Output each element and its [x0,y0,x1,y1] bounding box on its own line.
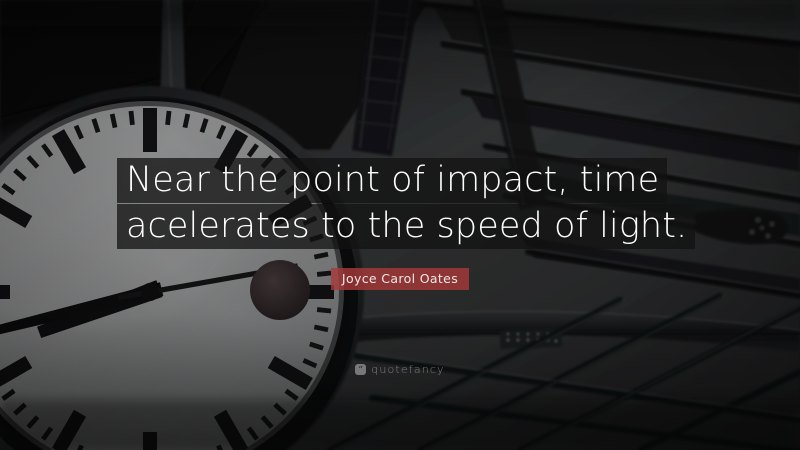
quote-text-block: Near the point of impact, time acelerate… [0,158,800,249]
author-attribution-row: Joyce Carol Oates [0,268,800,290]
author-name: Joyce Carol Oates [331,268,469,290]
quote-image-card: Near the point of impact, time acelerate… [0,0,800,450]
quotefancy-watermark: “ quotefancy [0,363,800,376]
quote-mark-glyph: “ [358,365,363,373]
quote-line-1: Near the point of impact, time [117,158,667,203]
quote-line-2: acelerates to the speed of light. [117,204,695,249]
watermark-label: quotefancy [371,363,444,376]
quote-mark-icon: “ [355,364,366,375]
